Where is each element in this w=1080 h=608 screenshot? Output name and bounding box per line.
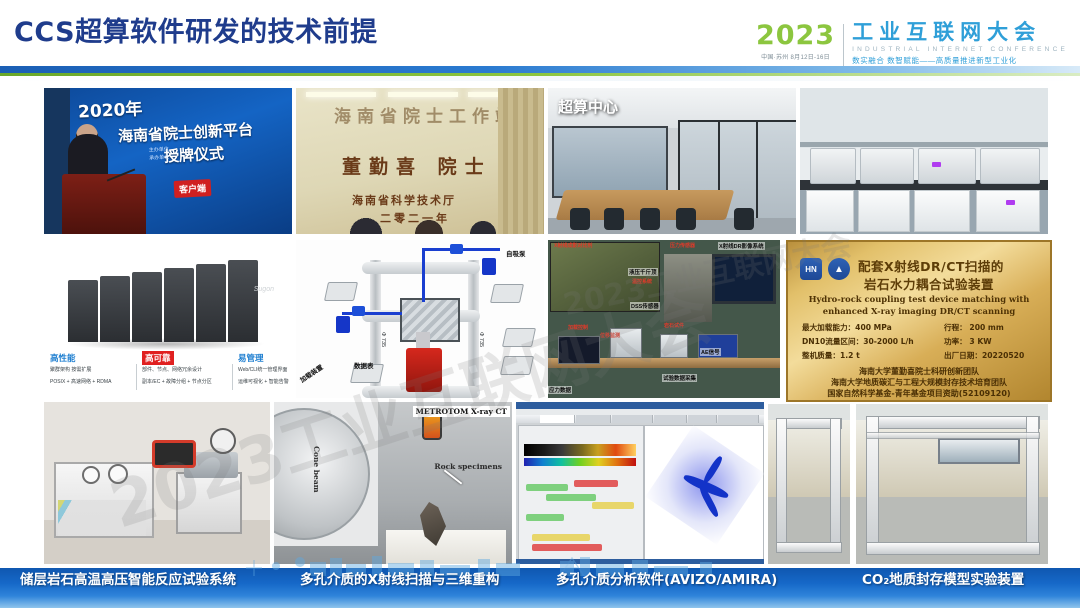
frame-post-right-1 — [830, 418, 841, 552]
pipeline-node-2[interactable] — [574, 480, 618, 487]
chair-5 — [734, 208, 754, 230]
transfer-function-bar[interactable] — [524, 458, 636, 466]
feature-desc-manageability-1: Web/CLI统一管理界面 — [238, 366, 287, 376]
frame-column-right — [468, 260, 479, 396]
ceremony-headline-award: 授牌仪式 — [163, 142, 224, 166]
annotation-data-table: 数据表 — [354, 360, 374, 370]
indicator-led-2 — [1006, 200, 1015, 205]
plaque-name-text: 董勤喜 院士 — [342, 152, 492, 179]
plaque-org-line2: 海南大学地质碳汇与工程大规模封存技术培育团队 — [788, 377, 1050, 388]
tab-3[interactable] — [612, 415, 653, 423]
supercomputing-center-caption: 超算中心 — [558, 96, 618, 117]
instrument-2 — [860, 148, 914, 184]
photo-server-cluster: Sugon 高性能 聚群架构 按需扩展 POSIX + 高速网络 + RDMA … — [44, 240, 292, 398]
cabinet-2 — [858, 190, 910, 232]
pipe-horizontal-left — [342, 312, 402, 315]
pipeline-node-4[interactable] — [592, 502, 634, 509]
podium-shape — [62, 174, 146, 234]
gold-equipment-plaque: HN ▲ 配套X射线DR/CT扫描的 岩石水力耦合试验装置 Hydro-rock… — [786, 240, 1052, 402]
photo-xray-ct-scanner: METROTOM X-ray CT Cone beam Rock specime… — [274, 402, 512, 564]
plaque-org-line3: 国家自然科学基金-青年基金项目资助(52109120) — [788, 388, 1050, 399]
logo-date: 中国·苏州 8月12日-16日 — [756, 52, 835, 61]
annotation-displacement-monitor: 位移监测 — [600, 332, 620, 339]
building-window — [938, 438, 1020, 464]
ceiling-lamp-1 — [306, 92, 376, 97]
pressure-gauge-2 — [108, 464, 128, 484]
indicator-led-1 — [932, 162, 941, 167]
page-title: CCS超算软件研发的技术前提 — [14, 10, 378, 49]
feature-divider-2 — [232, 364, 233, 390]
chair-4 — [676, 208, 696, 230]
feature-desc-reliability-2: 副本/EC + 故障分组 + 节点分区 — [142, 378, 212, 388]
header-rule-soft — [0, 76, 1080, 81]
plaque-org-line1: 海南大学董勤喜院士科研创新团队 — [788, 366, 1050, 377]
properties-row-1[interactable] — [532, 534, 590, 541]
annotation-hydraulic-jack: 液压千斤顶 — [628, 268, 658, 276]
feature-desc-performance-1: 聚群架构 按需扩展 — [50, 366, 91, 376]
spec-stroke: 行程： 200 mm — [944, 322, 1004, 333]
valve-left — [352, 306, 365, 316]
dimension-left: Φ 735 — [380, 332, 386, 347]
pipe-vertical-main — [422, 248, 425, 302]
screenshot-avizo-software — [516, 402, 764, 564]
server-rack-1 — [68, 280, 98, 342]
histogram-colorbar[interactable] — [524, 444, 636, 456]
plaque-top-text: 海南省院士工作站 — [334, 102, 518, 127]
feature-desc-performance-2: POSIX + 高速网络 + RDMA — [50, 378, 111, 388]
ceremony-organizers: 主办单位承办单位 — [149, 145, 170, 162]
server-rack-3 — [132, 272, 162, 342]
instrument-1 — [810, 148, 856, 184]
logo-slogan: 数实融合 数智赋能——高质量推进新型工业化 — [852, 57, 1068, 65]
reactor-vessel-shape — [176, 472, 242, 534]
cabinet-4 — [976, 190, 1040, 232]
feature-divider-1 — [136, 364, 137, 390]
cabinet-1 — [806, 190, 854, 232]
instrument-4 — [980, 148, 1040, 184]
server-rack-5 — [196, 264, 226, 342]
left-window-shape — [552, 126, 668, 198]
annotation-loading-device: 加载装置 — [297, 362, 324, 385]
frame-beam-top-2 — [866, 416, 1040, 429]
photo-supercomputing-center: 超算中心 — [548, 88, 796, 234]
server-rack-4 — [164, 268, 194, 342]
chair-1 — [570, 208, 590, 230]
spec-max-load: 最大加载能力：400 MPa — [802, 322, 892, 333]
chair-2 — [604, 208, 624, 230]
cone-beam-label: Cone beam — [312, 446, 321, 493]
logo-year: 2023 — [756, 22, 835, 49]
diagram-loading-frame-schematic: 自吸泵 数据表 加载装置 Φ 735 Φ 735 — [296, 240, 544, 398]
tab-active[interactable] — [540, 415, 575, 423]
caption-reactor-system: 储层岩石高温高压智能反应试验系统 — [20, 568, 236, 588]
annotation-dr-system: X射线DR影像系统 — [718, 242, 765, 250]
caption-analysis-software: 多孔介质分析软件(AVIZO/AMIRA) — [556, 568, 777, 588]
controller-right — [502, 328, 536, 347]
fluid-tank-right — [482, 258, 496, 275]
mullion-2 — [756, 120, 758, 224]
photo-frame-device-front — [856, 404, 1048, 564]
jack-rig-shape — [664, 254, 712, 322]
annotation-data-acquisition: 试验数据采集 — [662, 374, 697, 382]
core-holder-shape — [400, 298, 460, 342]
tab-5[interactable] — [688, 415, 717, 423]
ceiling-lamp-2 — [388, 92, 458, 97]
logo-name-block: 工业互联网大会 INDUSTRIAL INTERNET CONFERENCE 数… — [852, 22, 1068, 64]
frame-post-left-1 — [776, 418, 787, 552]
laptop-bottom-right — [500, 356, 534, 375]
feature-desc-reliability-1: 部件、节点、网络冗余设计 — [142, 366, 202, 376]
control-panel-shape — [152, 440, 196, 468]
dimension-right: Φ 735 — [478, 332, 484, 347]
caption-bar: 储层岩石高温高压智能反应试验系统 多孔介质的X射线扫描与三维重构 多孔介质分析软… — [0, 568, 1080, 608]
feature-label-performance: 高性能 — [50, 352, 76, 364]
slide-header: CCS超算软件研发的技术前提 2023 中国·苏州 8月12日-16日 工业互联… — [0, 0, 1080, 82]
plaque-english-line2: enhanced X-ray imaging DR/CT scanning — [788, 306, 1050, 316]
lab-shelf-shape — [800, 142, 1048, 147]
annotation-load-control: 加载控制 — [568, 324, 588, 331]
laptop-left — [324, 282, 358, 301]
plaque-title-line1: 配套X射线DR/CT扫描的 — [858, 256, 1004, 275]
annotation-dss-sensor: DSS传感器 — [630, 302, 660, 310]
annotation-pressure-sensor: 压力传感器 — [670, 242, 695, 249]
chair-3 — [640, 208, 660, 230]
logo-year-block: 2023 中国·苏州 8月12日-16日 — [756, 22, 843, 61]
ct-device-label: METROTOM X-ray CT — [413, 406, 510, 417]
photo-annotated-test-rig: X射线成影对比剂 压力传感器 X射线DR影像系统 液压千斤顶 温控系统 DSS传… — [548, 240, 780, 398]
hose-bundle-shape — [58, 500, 146, 536]
laptop-right — [490, 284, 524, 303]
fluid-tank-left — [336, 316, 350, 333]
photo-academician-plaque: 海南省院士工作站 董勤喜 院士 海南省科学技术厅 二零二一年 — [296, 88, 544, 234]
pipeline-node-3[interactable] — [546, 494, 596, 501]
mountain-badge-icon: ▲ — [828, 258, 850, 280]
valve-top — [450, 244, 463, 254]
annotation-temperature-control: 温控系统 — [632, 278, 652, 285]
plaque-title-line2: 岩石水力耦合试验装置 — [864, 274, 994, 293]
plaque-institute-text: 海南省科学技术厅 — [352, 192, 456, 208]
annotation-stress-data: 应力数据 — [548, 386, 572, 394]
slide: CCS超算软件研发的技术前提 2023 中国·苏州 8月12日-16日 工业互联… — [0, 0, 1080, 608]
app-title-bar[interactable] — [516, 402, 764, 409]
server-rack-2 — [100, 276, 130, 342]
logo-divider — [843, 24, 844, 66]
conference-logo: 2023 中国·苏州 8月12日-16日 工业互联网大会 INDUSTRIAL … — [756, 22, 1068, 68]
feature-label-reliability: 高可靠 — [142, 351, 174, 365]
tab-6[interactable] — [718, 415, 759, 423]
instrument-3 — [918, 148, 976, 184]
frame-beam-bottom-1 — [776, 542, 842, 553]
spec-flow-range: DN10流量区间：30-2000 L/h — [802, 336, 914, 347]
lab-wall-shape — [800, 88, 1048, 148]
audience-heads-shape — [330, 218, 510, 234]
ceremony-headline-year: 2020年 — [77, 94, 143, 122]
caption-xray-reconstruction: 多孔介质的X射线扫描与三维重构 — [300, 568, 499, 588]
tab-4[interactable] — [654, 415, 687, 423]
logo-name-en: INDUSTRIAL INTERNET CONFERENCE — [852, 47, 1068, 54]
tab-2[interactable] — [576, 415, 611, 423]
annotation-rock-specimen: 岩石试件 — [664, 322, 684, 329]
hn-badge-icon: HN — [800, 258, 822, 280]
cabinet-3 — [914, 190, 970, 232]
pipeline-node-5[interactable] — [526, 514, 564, 521]
photo-frame-device-side — [768, 404, 850, 564]
logo-name-cn: 工业互联网大会 — [852, 22, 1068, 43]
laptop-rig — [558, 336, 600, 364]
spec-power: 功率： 3 KW — [944, 336, 992, 347]
feature-desc-manageability-2: 运维可视化 + 智能告警 — [238, 378, 289, 388]
photo-reactor-system — [44, 402, 270, 564]
dr-imaging-monitor — [712, 254, 776, 304]
server-rack-6 — [228, 260, 258, 342]
annotation-self-priming-pump: 自吸泵 — [506, 248, 526, 258]
rig-box-2 — [660, 334, 688, 358]
photo-lab-instruments — [800, 88, 1048, 234]
annotation-ae-signal: AE信号 — [700, 348, 721, 356]
caption-co2-storage-device: CO₂地质封存模型实验装置 — [862, 568, 1024, 588]
plaque-english-line1: Hydro-rock coupling test device matching… — [788, 294, 1050, 304]
ceremony-media-badge: 客户端 — [174, 179, 212, 198]
header-rule-blue — [0, 66, 1080, 73]
reactor-dial-icon — [210, 428, 236, 454]
annotation-contrast-agent: X射线成影对比剂 — [554, 242, 592, 249]
frame-beam-top — [362, 262, 480, 274]
spec-manufacture-date: 出厂日期：20220520 — [944, 350, 1024, 361]
server-brand-label: Sugon — [254, 286, 274, 293]
properties-row-2[interactable] — [532, 544, 602, 551]
photo-award-ceremony: 2020年 海南省院士创新平台 授牌仪式 主办单位承办单位 客户端 — [44, 88, 292, 234]
pipeline-node-1[interactable] — [526, 484, 568, 491]
feature-label-manageability: 易管理 — [238, 352, 264, 364]
pressure-gauge-1 — [82, 466, 100, 484]
hydraulic-jack-shape — [406, 348, 442, 392]
frame-cross-brace — [866, 432, 1040, 439]
spec-mass: 整机质量：1.2 t — [802, 350, 860, 361]
curtain-shape — [498, 88, 544, 234]
